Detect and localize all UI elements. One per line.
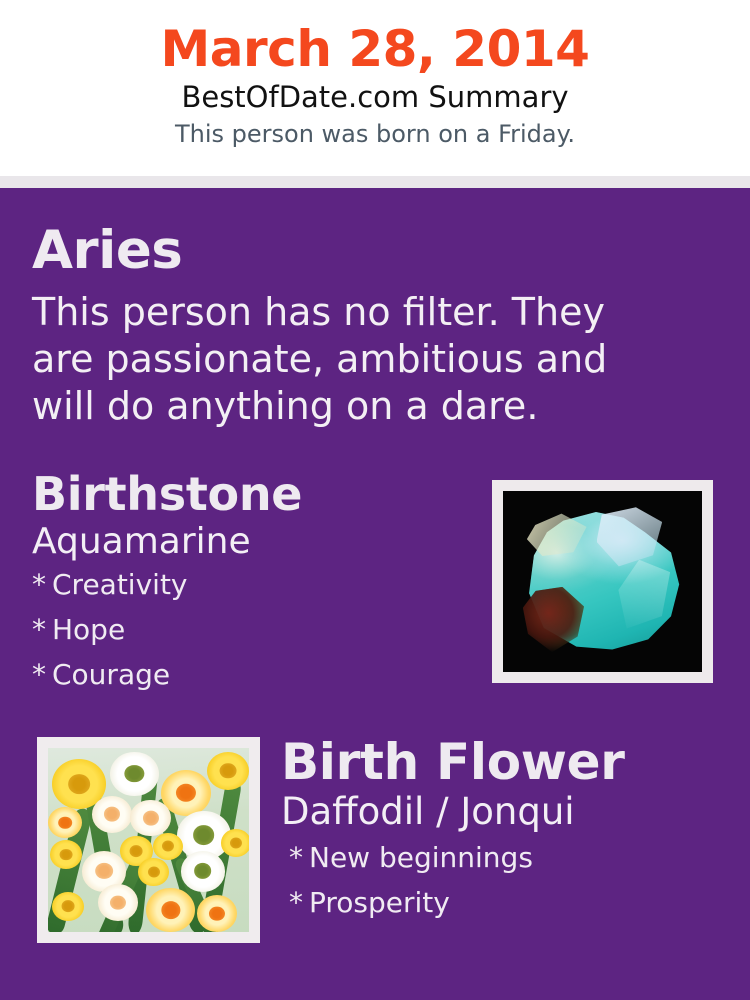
birthstone-trait-label: Hope: [52, 613, 125, 646]
zodiac-sign-name: Aries: [32, 224, 692, 277]
birth-flower-name: Daffodil / Jonqui: [281, 787, 721, 832]
birth-flower-trait-label: Prosperity: [309, 886, 450, 919]
birthstone-section: Birthstone Aquamarine *Creativity *Hope …: [32, 471, 472, 706]
flower-blossom: [207, 752, 249, 791]
flower-blossom: [92, 796, 132, 833]
birth-flower-section: Birth Flower Daffodil / Jonqui *New begi…: [281, 737, 721, 934]
list-item: *New beginnings: [289, 844, 721, 889]
bullet-star-icon: *: [289, 844, 309, 872]
flower-blossom: [110, 752, 158, 796]
birth-flower-trait-label: New beginnings: [309, 841, 533, 874]
birthstone-heading: Birthstone: [32, 471, 472, 517]
list-item: *Creativity: [32, 571, 472, 616]
birthstone-trait-list: *Creativity *Hope *Courage: [32, 561, 472, 706]
birth-day-note: This person was born on a Friday.: [0, 114, 750, 147]
birthstone-trait-label: Courage: [52, 658, 170, 691]
bullet-star-icon: *: [32, 661, 52, 689]
birth-flower-trait-list: *New beginnings *Prosperity: [281, 832, 721, 934]
bullet-star-icon: *: [289, 889, 309, 917]
site-summary-label: BestOfDate.com Summary: [0, 76, 750, 114]
content-panel: Aries This person has no filter. They ar…: [0, 188, 750, 1000]
header: March 28, 2014 BestOfDate.com Summary Th…: [0, 0, 750, 176]
flower-blossom: [130, 800, 170, 837]
flower-blossom: [48, 807, 82, 838]
flower-blossom: [138, 858, 168, 886]
flower-blossom: [146, 888, 194, 932]
flower-blossom: [221, 829, 249, 857]
birthstone-image-frame: [492, 480, 713, 683]
list-item: *Prosperity: [289, 889, 721, 934]
bullet-star-icon: *: [32, 616, 52, 644]
flower-blossom: [197, 895, 237, 932]
zodiac-description: This person has no filter. They are pass…: [32, 277, 652, 430]
zodiac-section: Aries This person has no filter. They ar…: [32, 224, 692, 430]
daffodil-flowers-image: [48, 748, 249, 932]
birth-flower-heading: Birth Flower: [281, 737, 721, 787]
page-title-date: March 28, 2014: [0, 0, 750, 76]
flower-blossom: [153, 833, 183, 861]
list-item: *Courage: [32, 661, 472, 706]
bullet-star-icon: *: [32, 571, 52, 599]
birthstone-name: Aquamarine: [32, 517, 472, 561]
flower-blossom: [52, 892, 84, 921]
header-divider: [0, 176, 750, 188]
list-item: *Hope: [32, 616, 472, 661]
flower-blossom: [181, 851, 225, 891]
summary-card: March 28, 2014 BestOfDate.com Summary Th…: [0, 0, 750, 1000]
aquamarine-crystal-image: [503, 491, 702, 672]
birthstone-trait-label: Creativity: [52, 568, 188, 601]
birth-flower-image-frame: [37, 737, 260, 943]
